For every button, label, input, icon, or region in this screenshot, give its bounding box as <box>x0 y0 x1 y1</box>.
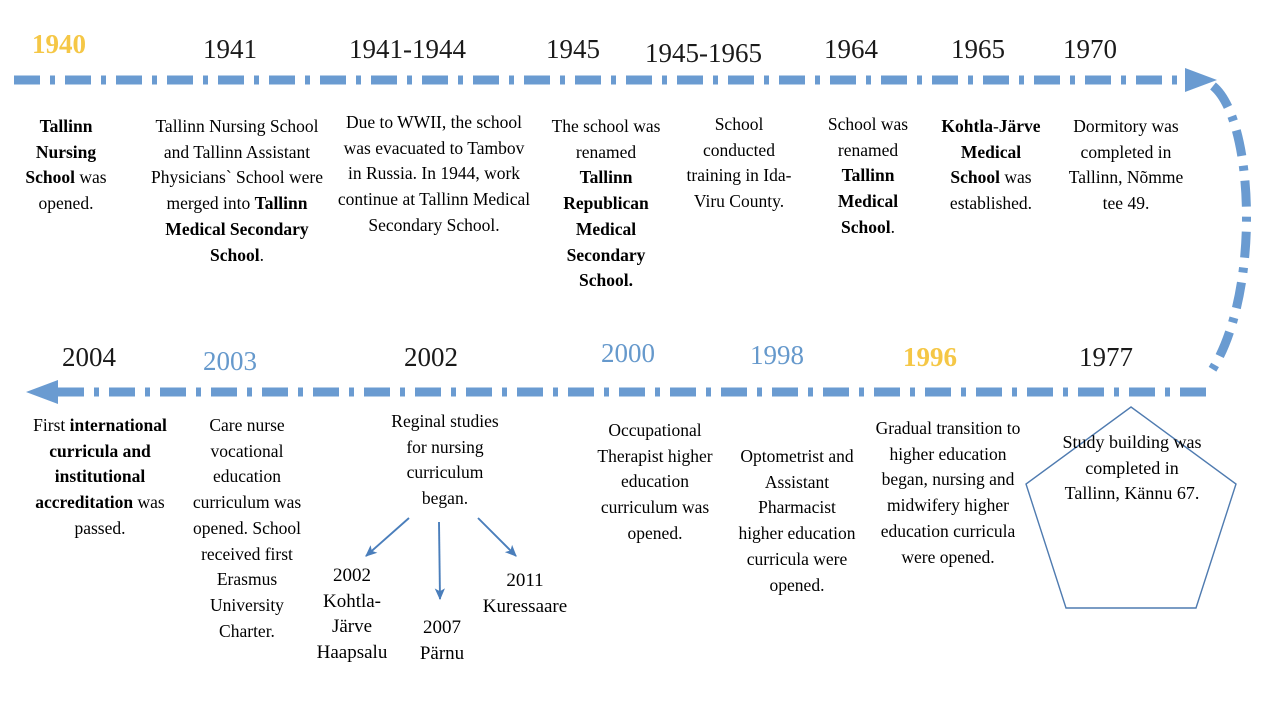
year-label-1998: 1998 <box>750 342 804 369</box>
year-label-1941-1944: 1941-1944 <box>349 36 466 63</box>
entry-text-1965: Kohtla-Järve Medical School was establis… <box>936 114 1046 217</box>
right-curve-connector <box>1208 86 1247 376</box>
entry-text-1940: Tallinn Nursing School was opened. <box>18 114 114 217</box>
entry-text-1970: Dormitory was completed in Tallinn, Nõmm… <box>1063 114 1189 217</box>
year-label-1945: 1945 <box>546 36 600 63</box>
branch-label-kuressaare: 2011 Kuressaare <box>472 568 578 619</box>
year-label-1940: 1940 <box>32 31 86 58</box>
entry-text-2003: Care nurse vocational education curricul… <box>186 413 308 644</box>
entry-text-1945-1965: School conducted training in Ida-Viru Co… <box>680 112 798 215</box>
entry-text-1996: Gradual transition to higher education b… <box>870 416 1026 570</box>
branch-label-parnu: 2007 Pärnu <box>402 615 482 666</box>
year-label-1964: 1964 <box>824 36 878 63</box>
year-label-1965: 1965 <box>951 36 1005 63</box>
year-label-2004: 2004 <box>62 344 116 371</box>
entry-text-1945: The school was renamed Tallinn Republica… <box>551 114 661 294</box>
year-label-1977: 1977 <box>1079 344 1133 371</box>
pentagon-label-1977: Study building was completed in Tallinn,… <box>1062 430 1202 507</box>
branch-arrow-parnu <box>439 522 440 599</box>
entry-text-1964: School was renamed Tallinn Medical Schoo… <box>820 112 916 241</box>
branch-arrow-kohtla-jarve <box>366 518 409 556</box>
year-label-2000: 2000 <box>601 340 655 367</box>
year-label-1996: 1996 <box>903 344 957 371</box>
year-label-2002: 2002 <box>404 344 458 371</box>
entry-text-2004: First international curricula and instit… <box>24 413 176 542</box>
bottom-arrowhead-icon <box>26 380 58 404</box>
year-label-1945-1965: 1945-1965 <box>645 40 762 67</box>
branch-arrow-kuressaare <box>478 518 516 556</box>
top-arrowhead-icon <box>1185 68 1217 92</box>
branch-label-kohtla-jarve-haapsalu: 2002 Kohtla- Järve Haapsalu <box>312 563 392 666</box>
timeline-diagram: 1940 1941 1941-1944 1945 1945-1965 1964 … <box>0 0 1280 720</box>
year-label-1970: 1970 <box>1063 36 1117 63</box>
entry-text-1941: Tallinn Nursing School and Tallinn Assis… <box>146 114 328 268</box>
year-label-1941: 1941 <box>203 36 257 63</box>
entry-text-2002: Reginal studies for nursing curriculum b… <box>384 409 506 512</box>
entry-text-1941-1944: Due to WWII, the school was evacuated to… <box>336 110 532 239</box>
year-label-2003: 2003 <box>203 348 257 375</box>
entry-text-1998: Optometrist and Assistant Pharmacist hig… <box>738 444 856 598</box>
entry-text-2000: Occupational Therapist higher education … <box>584 418 726 547</box>
